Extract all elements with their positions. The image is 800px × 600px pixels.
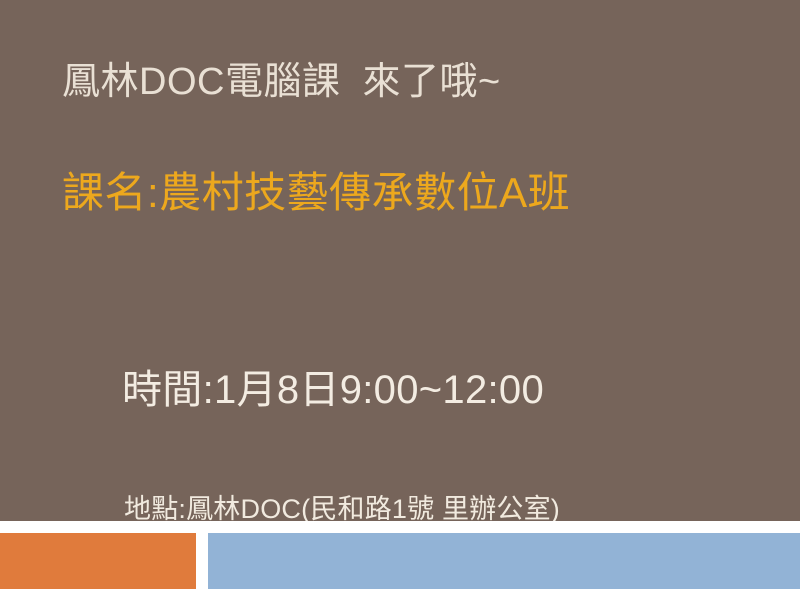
footer-bar-orange	[0, 533, 196, 589]
footer-bar-blue	[208, 533, 800, 589]
course-name-heading: 課名:農村技藝傳承數位A班	[62, 168, 570, 218]
footer-decoration-band	[0, 521, 800, 600]
slide-canvas: 鳳林DOC電腦課 來了哦~ 課名:農村技藝傳承數位A班 時間:1月8日9:00~…	[0, 0, 800, 600]
slide-headline: 鳳林DOC電腦課 來了哦~	[62, 60, 501, 105]
